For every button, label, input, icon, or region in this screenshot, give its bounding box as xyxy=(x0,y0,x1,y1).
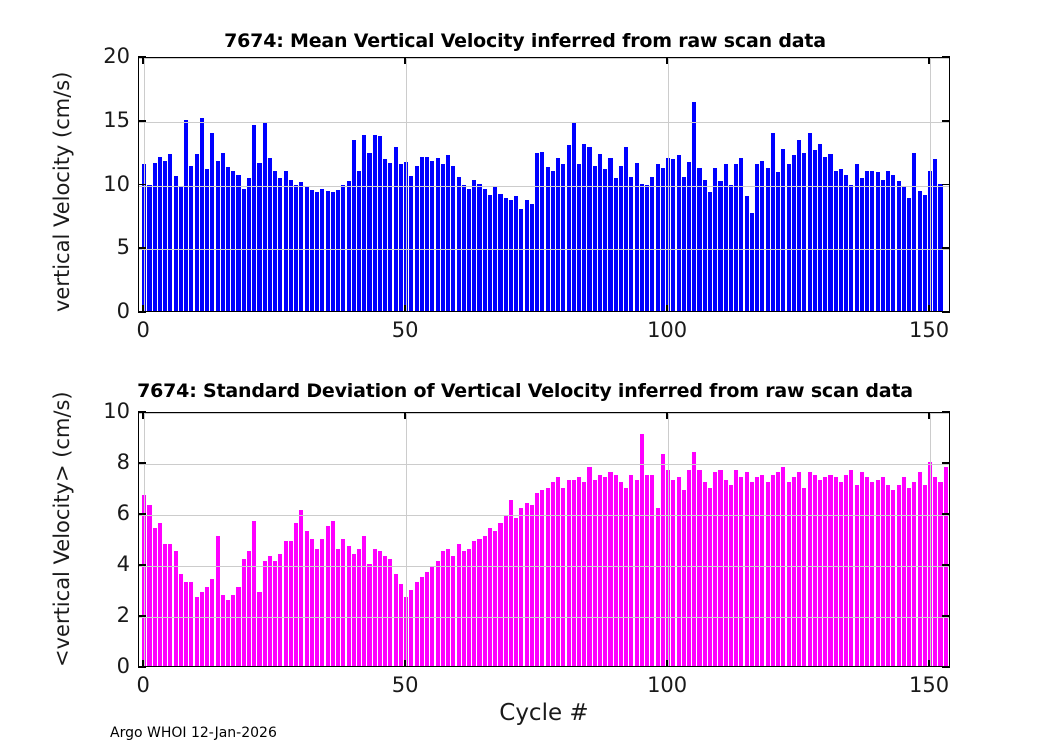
x-axis-tick-mark-top xyxy=(928,412,930,419)
bar xyxy=(540,490,544,666)
bar xyxy=(650,475,654,666)
y-axis-tick-mark xyxy=(138,564,146,566)
bar xyxy=(750,482,754,666)
bar xyxy=(399,584,403,666)
figure-canvas: 7674: Mean Vertical Velocity inferred fr… xyxy=(0,0,1050,750)
bar xyxy=(912,482,916,666)
bar xyxy=(593,480,597,666)
bar xyxy=(189,582,193,666)
bar xyxy=(598,475,602,666)
bar xyxy=(341,539,345,667)
x-axis-tick-mark-top xyxy=(142,412,144,419)
bar xyxy=(394,574,398,666)
bar xyxy=(179,574,183,666)
bar xyxy=(839,482,843,666)
bar xyxy=(498,523,502,666)
bar xyxy=(273,561,277,666)
bar xyxy=(692,452,696,666)
bar xyxy=(619,482,623,666)
x-axis-tick-mark-top xyxy=(404,412,406,419)
gridline-vertical xyxy=(144,413,145,666)
bar xyxy=(504,516,508,666)
bar xyxy=(677,477,681,666)
bar xyxy=(289,541,293,666)
bar xyxy=(608,472,612,666)
bar xyxy=(656,508,660,666)
bar xyxy=(918,472,922,666)
bar xyxy=(236,587,240,666)
bar xyxy=(383,556,387,666)
bar xyxy=(556,477,560,666)
bar xyxy=(247,551,251,666)
bar xyxy=(174,551,178,666)
bar xyxy=(933,477,937,666)
bar xyxy=(425,572,429,666)
bar xyxy=(263,561,267,666)
y-axis-tick-mark-right xyxy=(942,615,950,617)
bar xyxy=(278,554,282,666)
bar xyxy=(572,480,576,666)
y-axis-tick-mark xyxy=(138,462,146,464)
bar xyxy=(745,472,749,666)
gridline-vertical xyxy=(930,413,931,666)
bar xyxy=(828,475,832,666)
bar xyxy=(635,480,639,666)
bar xyxy=(891,490,895,666)
x-axis-tick-label: 100 xyxy=(617,673,717,697)
bar xyxy=(703,482,707,666)
bar xyxy=(577,477,581,666)
bar xyxy=(436,561,440,666)
bar xyxy=(629,475,633,666)
bar xyxy=(488,528,492,666)
gridline-horizontal xyxy=(139,515,949,516)
bar xyxy=(834,477,838,666)
gridline-vertical xyxy=(668,413,669,666)
x-axis-tick-label: 0 xyxy=(93,673,193,697)
bar xyxy=(147,505,151,666)
bar xyxy=(477,539,481,667)
bar xyxy=(257,592,261,666)
bar xyxy=(310,539,314,667)
bar xyxy=(808,472,812,666)
bar xyxy=(195,597,199,666)
bar xyxy=(551,482,555,666)
bar xyxy=(441,551,445,666)
bar xyxy=(687,470,691,666)
bar xyxy=(362,536,366,666)
bottom-plot-title: 7674: Standard Deviation of Vertical Vel… xyxy=(0,380,1050,402)
bar xyxy=(614,475,618,666)
bar xyxy=(525,503,529,666)
bar xyxy=(530,505,534,666)
bar xyxy=(582,482,586,666)
footer-credit: Argo WHOI 12-Jan-2026 xyxy=(110,725,277,741)
bar xyxy=(682,490,686,666)
bar xyxy=(388,559,392,666)
y-axis-tick-mark-right xyxy=(942,462,950,464)
bar xyxy=(242,559,246,666)
bar xyxy=(724,480,728,666)
bar xyxy=(184,582,188,666)
bar xyxy=(347,546,351,666)
bar xyxy=(462,551,466,666)
bar xyxy=(734,470,738,666)
x-axis-tick-mark xyxy=(404,660,406,667)
x-axis-label: Cycle # xyxy=(138,700,950,726)
bar xyxy=(451,556,455,666)
bar xyxy=(855,485,859,666)
y-axis-tick-mark-right xyxy=(942,513,950,515)
bar xyxy=(729,485,733,666)
bar xyxy=(844,475,848,666)
bar xyxy=(818,480,822,666)
bar xyxy=(509,500,513,666)
bar xyxy=(645,475,649,666)
bar xyxy=(378,551,382,666)
bar xyxy=(305,531,309,666)
bar xyxy=(661,454,665,666)
bar xyxy=(326,526,330,666)
bar xyxy=(535,493,539,666)
bar xyxy=(231,595,235,666)
bar xyxy=(252,521,256,666)
bar xyxy=(897,485,901,666)
bar xyxy=(870,482,874,666)
bar xyxy=(697,470,701,666)
bar xyxy=(493,531,497,666)
bar xyxy=(352,554,356,666)
bar xyxy=(876,480,880,666)
bar xyxy=(823,477,827,666)
bar xyxy=(514,518,518,666)
y-axis-tick-mark-right xyxy=(942,564,950,566)
bar xyxy=(367,564,371,666)
bar xyxy=(200,592,204,666)
bar xyxy=(409,590,413,667)
bar xyxy=(902,477,906,666)
bar xyxy=(787,482,791,666)
bar xyxy=(718,470,722,666)
bar xyxy=(153,528,157,666)
bar xyxy=(849,470,853,666)
bar xyxy=(163,544,167,666)
bar xyxy=(483,536,487,666)
bar xyxy=(168,544,172,666)
bar xyxy=(792,477,796,666)
bar xyxy=(603,477,607,666)
gridline-horizontal xyxy=(139,413,949,414)
bar xyxy=(938,482,942,666)
bar xyxy=(472,541,476,666)
bar xyxy=(771,475,775,666)
bar xyxy=(216,536,220,666)
bottom-plot-area xyxy=(138,412,950,667)
bar xyxy=(205,587,209,666)
y-axis-tick-mark xyxy=(138,513,146,515)
bar xyxy=(776,472,780,666)
axes-std-velocity: 7674: Standard Deviation of Vertical Vel… xyxy=(0,0,1050,750)
x-axis-tick-label: 150 xyxy=(879,673,979,697)
x-axis-tick-mark xyxy=(928,660,930,667)
x-axis-tick-label: 50 xyxy=(355,673,455,697)
bar xyxy=(519,508,523,666)
gridline-horizontal xyxy=(139,617,949,618)
x-axis-tick-mark-top xyxy=(666,412,668,419)
y-axis-label: <vertical Velocity> (cm/s) xyxy=(50,391,74,667)
bar xyxy=(881,477,885,666)
bar xyxy=(760,475,764,666)
bar xyxy=(640,434,644,666)
bar xyxy=(331,521,335,666)
bar xyxy=(457,544,461,666)
bar xyxy=(226,600,230,666)
bar xyxy=(739,477,743,666)
bar xyxy=(320,539,324,667)
bar xyxy=(567,480,571,666)
bar xyxy=(886,485,890,666)
y-axis-tick-mark-right xyxy=(942,411,950,413)
bar xyxy=(415,582,419,666)
y-axis-tick-mark-right xyxy=(942,666,950,668)
gridline-horizontal xyxy=(139,566,949,567)
bottom-bars-layer xyxy=(139,413,949,666)
bar xyxy=(671,480,675,666)
bar xyxy=(420,577,424,666)
gridline-vertical xyxy=(406,413,407,666)
bar xyxy=(299,510,303,666)
bar xyxy=(923,485,927,666)
bar xyxy=(158,523,162,666)
bar xyxy=(713,472,717,666)
bar xyxy=(860,472,864,666)
x-axis-tick-mark xyxy=(142,660,144,667)
x-axis-tick-mark xyxy=(666,660,668,667)
bar xyxy=(755,477,759,666)
bar xyxy=(294,523,298,666)
gridline-horizontal xyxy=(139,464,949,465)
y-axis-tick-mark xyxy=(138,615,146,617)
bar xyxy=(865,477,869,666)
bar xyxy=(268,556,272,666)
bar xyxy=(813,475,817,666)
bar xyxy=(797,472,801,666)
bar xyxy=(221,595,225,666)
bar xyxy=(210,579,214,666)
bar xyxy=(284,541,288,666)
bar xyxy=(766,482,770,666)
